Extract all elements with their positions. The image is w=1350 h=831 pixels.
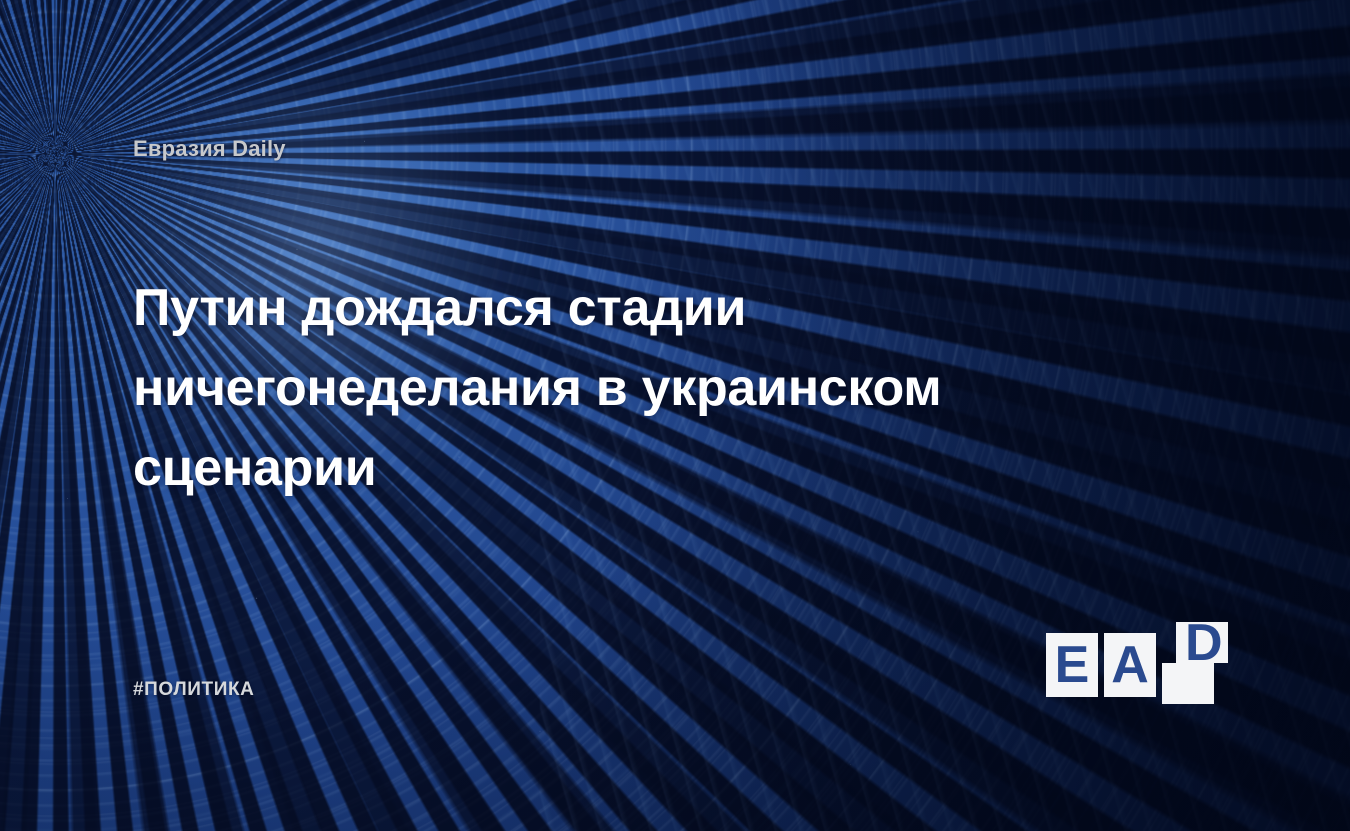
logo-letter-d-split: D D (1162, 622, 1236, 704)
article-share-card: Евразия Daily Путин дождался стадии ниче… (0, 0, 1350, 831)
ead-logo[interactable]: E A D D (1046, 622, 1236, 704)
category-hashtag[interactable]: #ПОЛИТИКА (133, 679, 255, 701)
logo-letter-d-top-half: D (1176, 622, 1228, 663)
logo-letter-a: A (1104, 633, 1156, 697)
logo-letter-e: E (1046, 633, 1098, 697)
headline-text: Путин дождался стадии ничегонеделания в … (133, 268, 1033, 508)
card-content: Евразия Daily Путин дождался стадии ниче… (0, 0, 1350, 831)
logo-letter-d-bottom-half: D (1162, 663, 1214, 704)
brand-name: Евразия Daily (133, 136, 286, 162)
logo-letter-d-glyph-bottom: D (1185, 663, 1214, 669)
logo-letter-d-glyph-top: D (1185, 622, 1223, 663)
